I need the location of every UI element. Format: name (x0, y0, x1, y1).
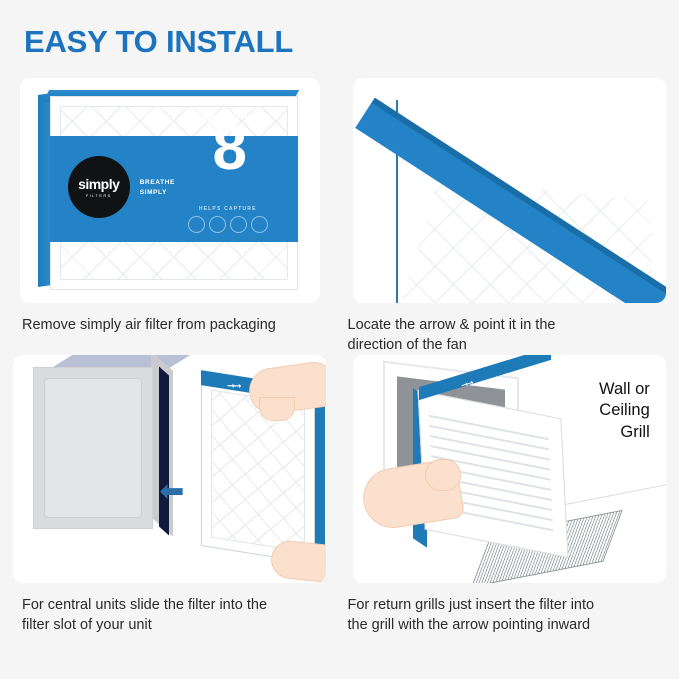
infographic-page: EASY TO INSTALL simply FILTE (0, 0, 679, 679)
box-label-band: simply FILTERS BREATHE SIMPLY MERV 8 (50, 136, 298, 242)
label-line: Grill (599, 422, 650, 443)
panel-4-caption: For return grills just insert the filter… (348, 595, 679, 635)
panel-2-image: ➞ ➞ (353, 78, 666, 303)
label-line: Ceiling (599, 400, 650, 421)
panel-3: ⬅ ➞➞ For central units slide the filter … (0, 355, 340, 635)
caption-line: direction of the fan (348, 335, 679, 355)
airflow-arrow-icon: ➞➞ (227, 381, 241, 392)
caption-line: For return grills just insert the filter… (348, 595, 679, 615)
brand-name: simply (78, 177, 119, 191)
caption-line: For central units slide the filter into … (22, 595, 340, 615)
wall-or-ceiling-grill-label: Wall or Ceiling Grill (599, 379, 650, 443)
tagline: BREATHE SIMPLY (140, 178, 175, 198)
panel-4-image: ➞➞ Wall or Ceiling Grill (353, 355, 666, 583)
caption-line: filter slot of your unit (22, 615, 340, 635)
unit-front (33, 367, 153, 529)
hand-lower (269, 539, 326, 583)
panel-1: simply FILTERS BREATHE SIMPLY MERV 8 (0, 78, 340, 355)
pollen-icon (230, 216, 247, 233)
panel-2-caption: Locate the arrow & point it in the direc… (348, 315, 679, 355)
hvac-unit (33, 367, 173, 549)
lint-icon (251, 216, 268, 233)
panel-row-bottom: ⬅ ➞➞ For central units slide the filter … (0, 355, 679, 635)
caption-line: the grill with the arrow pointing inward (348, 615, 679, 635)
panel-1-caption: Remove simply air filter from packaging (22, 315, 340, 335)
tagline-line-2: SIMPLY (140, 188, 175, 198)
filter-slot (159, 366, 169, 535)
slide-left-arrow: ⬅ (159, 477, 184, 507)
panel-3-caption: For central units slide the filter into … (22, 595, 340, 635)
box-front-face: simply FILTERS BREATHE SIMPLY MERV 8 (50, 96, 298, 290)
brand-logo: simply FILTERS (68, 156, 130, 218)
caption-line: Locate the arrow & point it in the (348, 315, 679, 335)
page-title: EASY TO INSTALL (24, 24, 293, 60)
panel-row-top: simply FILTERS BREATHE SIMPLY MERV 8 (0, 78, 679, 355)
unit-panel (44, 378, 142, 518)
tagline-line-1: BREATHE (140, 178, 175, 188)
droplet-icon (188, 216, 205, 233)
brand-subtitle: FILTERS (86, 193, 112, 198)
capture-icons (178, 216, 278, 233)
thumb (425, 459, 461, 491)
merv-rating: MERV 8 (182, 110, 278, 176)
dust-icon (209, 216, 226, 233)
helps-capture-label: HELPS CAPTURE (180, 206, 276, 212)
panel-grid: simply FILTERS BREATHE SIMPLY MERV 8 (0, 78, 679, 635)
filter-box: simply FILTERS BREATHE SIMPLY MERV 8 (38, 88, 304, 293)
airflow-arrow-1: ➞ (460, 128, 491, 163)
caption-line: Remove simply air filter from packaging (22, 315, 340, 335)
merv-value: 8 (182, 123, 278, 176)
label-line: Wall or (599, 379, 650, 400)
airflow-arrow-2: ➞ (488, 148, 519, 183)
panel-4: ➞➞ Wall or Ceiling Grill For return gril… (340, 355, 679, 635)
panel-1-image: simply FILTERS BREATHE SIMPLY MERV 8 (20, 78, 320, 303)
panel-2: ➞ ➞ Locate the arrow & point it in the d… (340, 78, 679, 355)
panel-3-image: ⬅ ➞➞ (13, 355, 326, 583)
thumb-upper (259, 397, 295, 421)
